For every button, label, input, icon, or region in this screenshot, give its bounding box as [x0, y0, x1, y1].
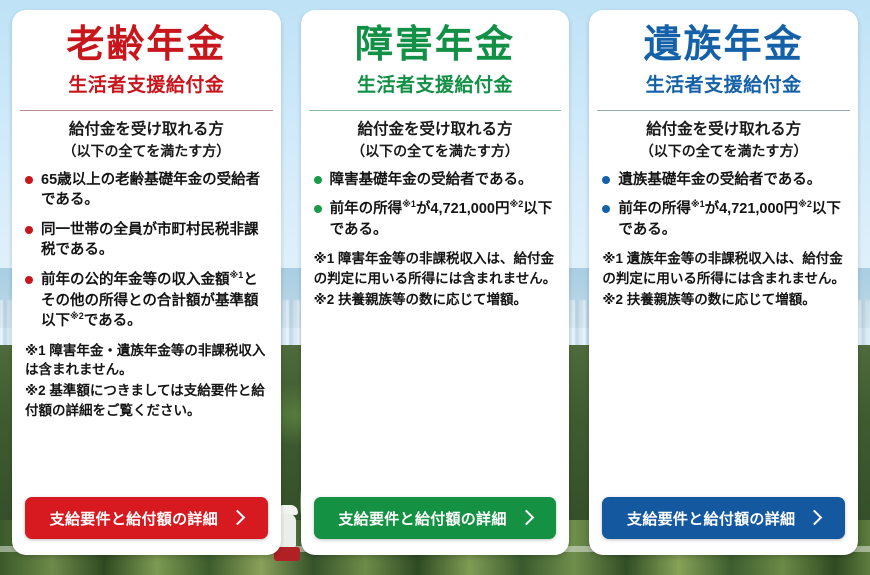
- footnote-text: ※1 障害年金等の非課税収入は、給付金の判定に用いる所得には含まれません。: [314, 249, 557, 288]
- benefit-card-disability-pension: 障害年金生活者支援給付金給付金を受け取れる方（以下の全てを満たす方）障害基礎年金…: [301, 10, 570, 555]
- footnote-marker-1: ※1: [230, 270, 244, 280]
- card-header: 老齢年金生活者支援給付金: [12, 10, 281, 107]
- card-subtitle: 生活者支援給付金: [22, 70, 271, 97]
- eligibility-subheading: （以下の全てを満たす方）: [314, 142, 557, 161]
- benefit-card-old-age-pension: 老齢年金生活者支援給付金給付金を受け取れる方（以下の全てを満たす方）65歳以上の…: [12, 10, 281, 555]
- condition-text: 前年の所得: [330, 201, 403, 217]
- condition-text: 前年の所得: [618, 201, 691, 217]
- eligibility-conditions: 65歳以上の老齢基礎年金の受給者である。同一世帯の全員が市町村民税非課税である。…: [25, 170, 268, 332]
- eligibility-heading: 給付金を受け取れる方: [314, 120, 557, 141]
- card-footer: 支給要件と給付額の詳細: [589, 497, 858, 555]
- footnotes: ※1 障害年金・遺族年金等の非課税収入は含まれません。※2 基準額につきましては…: [25, 341, 268, 421]
- footnote-marker-2: ※2: [509, 199, 523, 209]
- card-body: 給付金を受け取れる方（以下の全てを満たす方）65歳以上の老齢基礎年金の受給者であ…: [12, 111, 281, 497]
- card-title: 遺族年金: [599, 26, 848, 66]
- footnote-marker-1: ※1: [402, 199, 416, 209]
- card-body: 給付金を受け取れる方（以下の全てを満たす方）障害基礎年金の受給者である。前年の所…: [301, 111, 570, 497]
- card-subtitle: 生活者支援給付金: [311, 70, 560, 97]
- card-footer: 支給要件と給付額の詳細: [301, 497, 570, 555]
- chevron-right-icon: [518, 510, 534, 526]
- details-button-label: 支給要件と給付額の詳細: [338, 508, 506, 529]
- condition-text: である。: [84, 313, 142, 329]
- footnote-marker-2: ※2: [798, 199, 812, 209]
- card-header: 障害年金生活者支援給付金: [301, 10, 570, 107]
- eligibility-conditions: 障害基礎年金の受給者である。前年の所得※1が4,721,000円※2以下である。: [314, 170, 557, 241]
- details-button-label: 支給要件と給付額の詳細: [50, 508, 218, 529]
- condition-item: 遺族基礎年金の受給者である。: [602, 170, 845, 191]
- card-title: 老齢年金: [22, 26, 271, 66]
- chevron-right-icon: [807, 510, 823, 526]
- eligibility-heading: 給付金を受け取れる方: [602, 120, 845, 141]
- page-stage: 老齢年金生活者支援給付金給付金を受け取れる方（以下の全てを満たす方）65歳以上の…: [0, 0, 870, 575]
- bullet-dot-icon: [25, 176, 33, 184]
- details-button-label: 支給要件と給付額の詳細: [627, 508, 795, 529]
- benefit-card-survivors-pension: 遺族年金生活者支援給付金給付金を受け取れる方（以下の全てを満たす方）遺族基礎年金…: [589, 10, 858, 555]
- card-title: 障害年金: [311, 26, 560, 66]
- details-button-old-age-pension[interactable]: 支給要件と給付額の詳細: [25, 497, 268, 539]
- condition-text: 65歳以上の老齢基礎年金の受給者である。: [41, 172, 260, 209]
- condition-text: が4,721,000円: [705, 201, 799, 217]
- details-button-disability-pension[interactable]: 支給要件と給付額の詳細: [314, 497, 557, 539]
- bullet-dot-icon: [314, 176, 322, 184]
- condition-item: 65歳以上の老齢基礎年金の受給者である。: [25, 170, 268, 211]
- eligibility-subheading: （以下の全てを満たす方）: [25, 142, 268, 161]
- details-button-survivors-pension[interactable]: 支給要件と給付額の詳細: [602, 497, 845, 539]
- condition-text: 同一世帯の全員が市町村民税非課税である。: [41, 222, 259, 259]
- eligibility-conditions: 遺族基礎年金の受給者である。前年の所得※1が4,721,000円※2以下である。: [602, 170, 845, 241]
- benefit-card-list: 老齢年金生活者支援給付金給付金を受け取れる方（以下の全てを満たす方）65歳以上の…: [0, 0, 870, 575]
- bullet-dot-icon: [25, 276, 33, 284]
- card-footer: 支給要件と給付額の詳細: [12, 497, 281, 555]
- condition-item: 障害基礎年金の受給者である。: [314, 170, 557, 191]
- condition-item: 同一世帯の全員が市町村民税非課税である。: [25, 220, 268, 261]
- footnote-text: ※2 扶養親族等の数に応じて増額。: [602, 290, 845, 310]
- condition-text: が4,721,000円: [416, 201, 510, 217]
- condition-text: 障害基礎年金の受給者である。: [330, 172, 533, 188]
- eligibility-subheading: （以下の全てを満たす方）: [602, 142, 845, 161]
- chevron-right-icon: [230, 510, 246, 526]
- bullet-dot-icon: [314, 205, 322, 213]
- card-header: 遺族年金生活者支援給付金: [589, 10, 858, 107]
- condition-item: 前年の公的年金等の収入金額※1とその他の所得との合計額が基準額以下※2である。: [25, 270, 268, 332]
- condition-item: 前年の所得※1が4,721,000円※2以下である。: [602, 199, 845, 240]
- card-body: 給付金を受け取れる方（以下の全てを満たす方）遺族基礎年金の受給者である。前年の所…: [589, 111, 858, 497]
- footnotes: ※1 障害年金等の非課税収入は、給付金の判定に用いる所得には含まれません。※2 …: [314, 249, 557, 309]
- footnote-text: ※2 基準額につきましては支給要件と給付額の詳細をご覧ください。: [25, 381, 268, 420]
- eligibility-heading: 給付金を受け取れる方: [25, 120, 268, 141]
- condition-text: 前年の公的年金等の収入金額: [41, 272, 230, 288]
- bullet-dot-icon: [602, 176, 610, 184]
- footnote-text: ※1 障害年金・遺族年金等の非課税収入は含まれません。: [25, 341, 268, 380]
- footnote-marker-2: ※2: [70, 311, 84, 321]
- card-subtitle: 生活者支援給付金: [599, 70, 848, 97]
- footnote-text: ※2 扶養親族等の数に応じて増額。: [314, 290, 557, 310]
- condition-text: 遺族基礎年金の受給者である。: [618, 172, 821, 188]
- footnote-text: ※1 遺族年金等の非課税収入は、給付金の判定に用いる所得には含まれません。: [602, 249, 845, 288]
- bullet-dot-icon: [25, 226, 33, 234]
- condition-item: 前年の所得※1が4,721,000円※2以下である。: [314, 199, 557, 240]
- footnotes: ※1 遺族年金等の非課税収入は、給付金の判定に用いる所得には含まれません。※2 …: [602, 249, 845, 309]
- footnote-marker-1: ※1: [691, 199, 705, 209]
- bullet-dot-icon: [602, 205, 610, 213]
